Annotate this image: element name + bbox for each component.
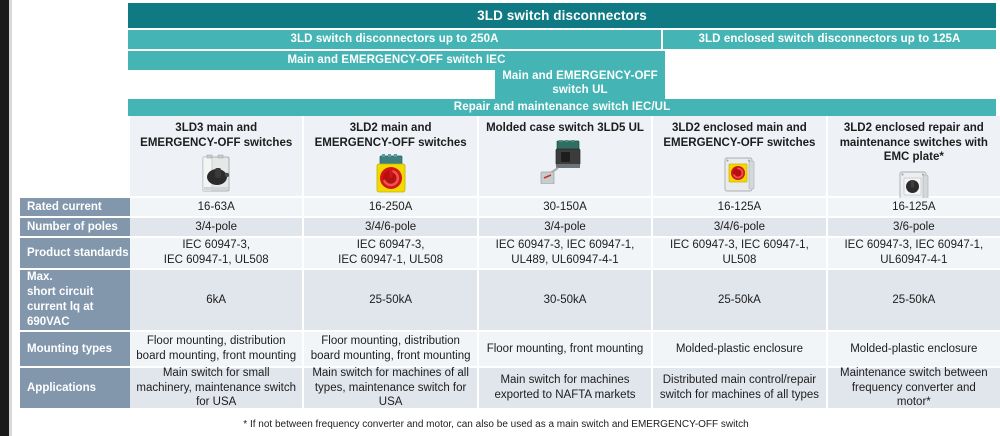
row-label-rated-current: Rated current [20, 198, 130, 218]
cell-applications-4: Maintenance switch between frequency con… [828, 368, 1000, 410]
banner-enclosed-switch-125a: 3LD enclosed switch disconnectors up to … [663, 30, 996, 49]
cell-applications-0: Main switch for small machinery, mainten… [130, 368, 304, 410]
row-left-spacer [0, 332, 20, 368]
column-header-1: 3LD2 main and EMERGENCY-OFF switches [304, 116, 478, 198]
banner-repair-maintenance: Repair and maintenance switch IEC/UL [128, 99, 996, 116]
table-row-mounting-types: Mounting types Floor mounting, distribut… [0, 332, 1000, 368]
cell-rated-current-4: 16-125A [828, 198, 1000, 218]
table-row-applications: Applications Main switch for small machi… [0, 368, 1000, 410]
product-image-modular-switch-black-knob [191, 154, 241, 196]
product-image-yellow-red-emergency-off-switch [366, 154, 416, 198]
table-row-number-of-poles: Number of poles 3/4-pole 3/4/6-pole 3/4-… [0, 218, 1000, 238]
cell-mounting-4: Molded-plastic enclosure [828, 332, 1000, 368]
cell-shortcircuit-0: 6kA [130, 270, 304, 332]
cell-poles-3: 3/4/6-pole [653, 218, 827, 238]
cell-shortcircuit-4: 25-50kA [828, 270, 1000, 332]
cell-shortcircuit-1: 25-50kA [304, 270, 478, 332]
header-label-blank [20, 116, 130, 198]
cell-rated-current-2: 30-150A [479, 198, 653, 218]
row-left-spacer [0, 218, 20, 238]
cell-rated-current-1: 16-250A [304, 198, 478, 218]
column-title-0: 3LD3 main and EMERGENCY-OFF switches [136, 121, 296, 150]
cell-standards-4: IEC 60947-3, IEC 60947-1, UL60947-4-1 [828, 238, 1000, 270]
column-header-2: Molded case switch 3LD5 UL [479, 116, 653, 198]
cell-poles-2: 3/4-pole [479, 218, 653, 238]
spec-table: 3LD3 main and EMERGENCY-OFF switches [0, 116, 1000, 410]
product-image-molded-case-switch-with-handle [539, 140, 591, 184]
column-header-0: 3LD3 main and EMERGENCY-OFF switches [130, 116, 304, 198]
banner-switch-disconnectors-250a: 3LD switch disconnectors up to 250A [128, 30, 661, 49]
cell-shortcircuit-3: 25-50kA [653, 270, 827, 332]
banner-product-family: 3LD switch disconnectors [128, 3, 996, 28]
cell-mounting-0: Floor mounting, distribution board mount… [130, 332, 304, 368]
column-header-4: 3LD2 enclosed repair and maintenance swi… [828, 116, 1000, 198]
footnote-text: * If not between frequency converter and… [0, 419, 1000, 430]
cell-standards-3: IEC 60947-3, IEC 60947-1, UL508 [653, 238, 827, 270]
row-label-mounting-types: Mounting types [20, 332, 130, 368]
cell-applications-1: Main switch for machines of all types, m… [304, 368, 478, 410]
table-row-rated-current: Rated current 16-63A 16-250A 30-150A 16-… [0, 198, 1000, 218]
table-header-row: 3LD3 main and EMERGENCY-OFF switches [0, 116, 1000, 198]
column-title-1: 3LD2 main and EMERGENCY-OFF switches [310, 121, 470, 150]
row-label-max-short-circuit-current: Max. short circuit current lq at 690VAC [20, 270, 130, 332]
header-left-spacer [0, 116, 20, 198]
cell-poles-1: 3/4/6-pole [304, 218, 478, 238]
product-image-enclosed-yellow-red-switch [716, 154, 762, 196]
cell-rated-current-3: 16-125A [653, 198, 827, 218]
row-left-spacer [0, 238, 20, 270]
cell-standards-0: IEC 60947-3, IEC 60947-1, UL508 [130, 238, 304, 270]
column-title-4: 3LD2 enclosed repair and maintenance swi… [834, 121, 994, 165]
hierarchy-banners: 3LD switch disconnectors 3LD switch disc… [0, 0, 1000, 115]
column-title-2: Molded case switch 3LD5 UL [485, 121, 645, 136]
banner-main-emergency-off-ul: Main and EMERGENCY-OFF switch UL [495, 68, 665, 99]
cell-rated-current-0: 16-63A [130, 198, 304, 218]
cell-applications-2: Main switch for machines exported to NAF… [479, 368, 653, 410]
comparison-table-page: 3LD switch disconnectors 3LD switch disc… [0, 0, 1000, 436]
cell-mounting-3: Molded-plastic enclosure [653, 332, 827, 368]
row-label-product-standards: Product standards [20, 238, 130, 270]
cell-poles-4: 3/6-pole [828, 218, 1000, 238]
row-label-applications: Applications [20, 368, 130, 410]
row-label-number-of-poles: Number of poles [20, 218, 130, 238]
cell-poles-0: 3/4-pole [130, 218, 304, 238]
table-row-max-short-circuit-current: Max. short circuit current lq at 690VAC … [0, 270, 1000, 332]
column-title-3: 3LD2 enclosed main and EMERGENCY-OFF swi… [659, 121, 819, 150]
cell-mounting-1: Floor mounting, distribution board mount… [304, 332, 478, 368]
table-row-product-standards: Product standards IEC 60947-3, IEC 60947… [0, 238, 1000, 270]
cell-standards-1: IEC 60947-3, IEC 60947-1, UL508 [304, 238, 478, 270]
cell-standards-2: IEC 60947-3, IEC 60947-1, UL489, UL60947… [479, 238, 653, 270]
row-left-spacer [0, 198, 20, 218]
cell-applications-3: Distributed main control/repair switch f… [653, 368, 827, 410]
row-left-spacer [0, 368, 20, 410]
cell-mounting-2: Floor mounting, front mounting [479, 332, 653, 368]
row-left-spacer [0, 270, 20, 332]
column-header-3: 3LD2 enclosed main and EMERGENCY-OFF swi… [653, 116, 827, 198]
cell-shortcircuit-2: 30-50kA [479, 270, 653, 332]
